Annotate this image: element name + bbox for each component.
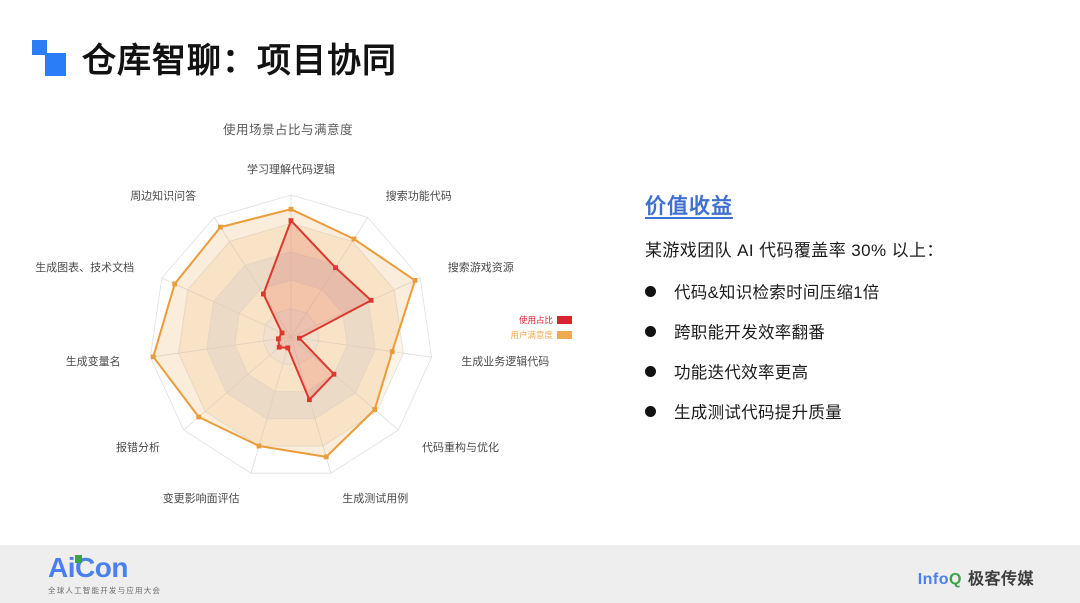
radar-axis-label: 搜索游戏资源 — [448, 260, 514, 274]
slide-header: 仓库智聊：项目协同 — [0, 0, 1080, 105]
radar-axis-label: 报错分析 — [116, 440, 160, 454]
infoq-info-text: Info — [918, 571, 949, 588]
radar-axis-label: 生成测试用例 — [342, 491, 408, 505]
chart-legend: 使用占比用户满意度 — [510, 315, 572, 340]
radar-axis-label: 变更影响面评估 — [163, 491, 240, 505]
list-item: 跨职能开发效率翻番 — [645, 319, 1045, 343]
radar-chart-block: 使用场景占比与满意度 学习理解代码逻辑搜索功能代码搜索游戏资源生成业务逻辑代码代… — [8, 105, 608, 535]
value-benefit-panel: 价值收益 某游戏团队 AI 代码覆盖率 30% 以上： 代码&知识检索时间压缩1… — [645, 190, 1045, 439]
radar-axis-label: 学习理解代码逻辑 — [247, 162, 335, 176]
radar-axis-label: 搜索功能代码 — [386, 189, 452, 203]
benefit-list: 代码&知识检索时间压缩1倍跨职能开发效率翻番功能迭代效率更高生成测试代码提升质量 — [645, 279, 1045, 423]
value-panel-lead: 某游戏团队 AI 代码覆盖率 30% 以上： — [645, 236, 1045, 261]
list-item: 功能迭代效率更高 — [645, 359, 1045, 383]
bullet-dot-icon — [645, 366, 656, 377]
value-panel-heading: 价值收益 — [645, 190, 1045, 220]
radar-axis-label: 生成图表、技术文档 — [35, 260, 134, 274]
infoq-logo: InfoQ极客传媒 — [918, 565, 1034, 589]
slide-footer: AiCon 全球人工智能开发与应用大会 InfoQ极客传媒 — [0, 545, 1080, 603]
aicon-green-dot-icon — [75, 555, 82, 563]
list-item: 代码&知识检索时间压缩1倍 — [645, 279, 1045, 303]
aicon-subtitle: 全球人工智能开发与应用大会 — [48, 585, 238, 596]
page-title: 仓库智聊：项目协同 — [82, 33, 397, 82]
list-item-label: 生成测试代码提升质量 — [674, 399, 842, 423]
radar-axis-label: 代码重构与优化 — [422, 440, 499, 454]
radar-axis-label: 周边知识问答 — [130, 189, 196, 203]
list-item-label: 代码&知识检索时间压缩1倍 — [674, 279, 880, 303]
legend-label: 用户满意度 — [510, 330, 553, 340]
logo-square-large — [45, 53, 66, 76]
bullet-dot-icon — [645, 326, 656, 337]
list-item: 生成测试代码提升质量 — [645, 399, 1045, 423]
list-item-label: 跨职能开发效率翻番 — [674, 319, 825, 343]
radar-chart: 学习理解代码逻辑搜索功能代码搜索游戏资源生成业务逻辑代码代码重构与优化生成测试用… — [8, 105, 608, 535]
bullet-dot-icon — [645, 286, 656, 297]
blue-squares-logo-icon — [32, 40, 66, 76]
legend-swatch — [557, 331, 572, 339]
legend-swatch — [557, 316, 572, 324]
infoq-q-text: Q — [949, 571, 962, 588]
infoq-cn-text: 极客传媒 — [968, 571, 1034, 588]
radar-axis-label: 生成业务逻辑代码 — [461, 354, 549, 368]
aicon-wordmark: AiCon — [48, 554, 128, 582]
radar-axis-label: 生成变量名 — [66, 354, 121, 368]
list-item-label: 功能迭代效率更高 — [674, 359, 808, 383]
bullet-dot-icon — [645, 406, 656, 417]
aicon-logo: AiCon 全球人工智能开发与应用大会 — [48, 554, 238, 596]
legend-label: 使用占比 — [519, 315, 553, 325]
